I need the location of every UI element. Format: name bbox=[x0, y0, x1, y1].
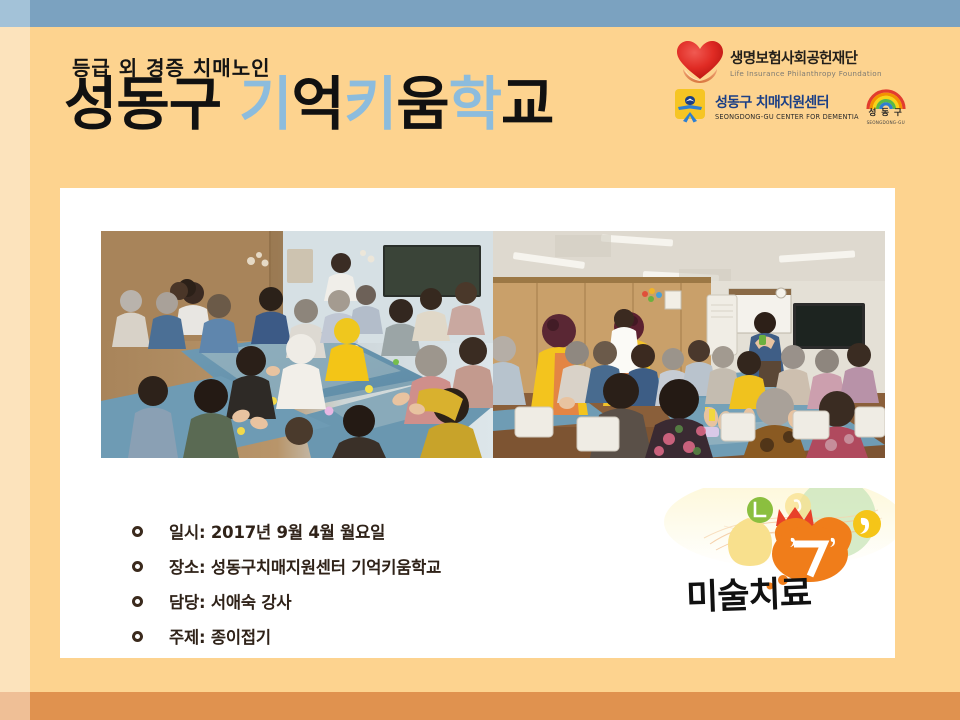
list-item: 주제: 종이접기 bbox=[74, 621, 441, 651]
heart-hand-icon bbox=[674, 39, 726, 85]
list-item: 담당: 서애숙 강사 bbox=[74, 586, 441, 616]
detail-list: 일시: 2017년 9월 4월 월요일 장소: 성동구치매지원센터 기억키움학교… bbox=[74, 516, 441, 656]
bullet-icon bbox=[132, 561, 143, 572]
top-accent-bar bbox=[0, 0, 960, 27]
bullet-icon bbox=[132, 631, 143, 642]
logo-dementia-center: 성동구 치매지원센터 SEONGDONG-GU CENTER FOR DEMEN… bbox=[674, 87, 906, 125]
slide-root: 등급 외 경증 치매노인 성동구기억키움학교 bbox=[0, 0, 960, 720]
logo-district-korean: 성 동 구 bbox=[865, 106, 907, 118]
photo-paper-folding-class-left bbox=[101, 231, 493, 458]
title-part-gi: 기 bbox=[239, 70, 291, 138]
content-panel: 일시: 2017년 9월 4월 월요일 장소: 성동구치매지원센터 기억키움학교… bbox=[60, 188, 895, 658]
logo-dementia-center-english: SEONGDONG-GU CENTER FOR DEMENTIA bbox=[715, 113, 859, 121]
title-part-gyo: 교 bbox=[501, 70, 553, 138]
title-part-hak: 학 bbox=[449, 70, 501, 138]
detail-topic: 주제: 종이접기 bbox=[169, 624, 271, 648]
list-item: 장소: 성동구치매지원센터 기억키움학교 bbox=[74, 551, 441, 581]
title-part-um: 움 bbox=[396, 70, 448, 138]
title-part-eok: 억 bbox=[291, 70, 343, 138]
title-part-seongdonggu: 성동구 bbox=[64, 70, 221, 138]
person-star-icon bbox=[674, 88, 710, 124]
bullet-icon bbox=[132, 526, 143, 537]
logo-life-insurance-foundation: 생명보험사회공헌재단 Life Insurance Philanthropy F… bbox=[674, 39, 906, 85]
art-therapy-graphic: 미술치료 bbox=[664, 488, 895, 648]
logo-life-insurance-english: Life Insurance Philanthropy Foundation bbox=[730, 69, 882, 78]
title-part-ki: 키 bbox=[344, 70, 396, 138]
logo-cluster: 생명보험사회공헌재단 Life Insurance Philanthropy F… bbox=[674, 39, 906, 129]
logo-life-insurance-text: 생명보험사회공헌재단 Life Insurance Philanthropy F… bbox=[730, 47, 882, 78]
photo-paper-folding-class-right bbox=[493, 231, 885, 458]
list-item: 일시: 2017년 9월 4월 월요일 bbox=[74, 516, 441, 546]
bottom-accent-bar-left-segment bbox=[0, 692, 30, 720]
logo-dementia-center-text: 성동구 치매지원센터 SEONGDONG-GU CENTER FOR DEMEN… bbox=[715, 92, 859, 121]
rainbow-icon: 성 동 구 SEONGDONG-GU bbox=[865, 87, 907, 125]
detail-location: 장소: 성동구치매지원센터 기억키움학교 bbox=[169, 554, 441, 578]
header: 등급 외 경증 치매노인 성동구기억키움학교 bbox=[0, 27, 960, 188]
logo-district-english: SEONGDONG-GU bbox=[865, 120, 907, 125]
page-title: 성동구기억키움학교 bbox=[64, 74, 553, 135]
photo-strip bbox=[101, 231, 885, 458]
bullet-icon bbox=[132, 596, 143, 607]
logo-dementia-center-korean: 성동구 치매지원센터 bbox=[715, 92, 859, 112]
art-therapy-label: 미술치료 bbox=[685, 563, 877, 621]
top-accent-bar-left-segment bbox=[0, 0, 30, 27]
bottom-accent-bar bbox=[0, 692, 960, 720]
detail-instructor: 담당: 서애숙 강사 bbox=[169, 589, 291, 613]
detail-date: 일시: 2017년 9월 4월 월요일 bbox=[169, 519, 385, 543]
logo-life-insurance-korean: 생명보험사회공헌재단 bbox=[730, 47, 882, 68]
